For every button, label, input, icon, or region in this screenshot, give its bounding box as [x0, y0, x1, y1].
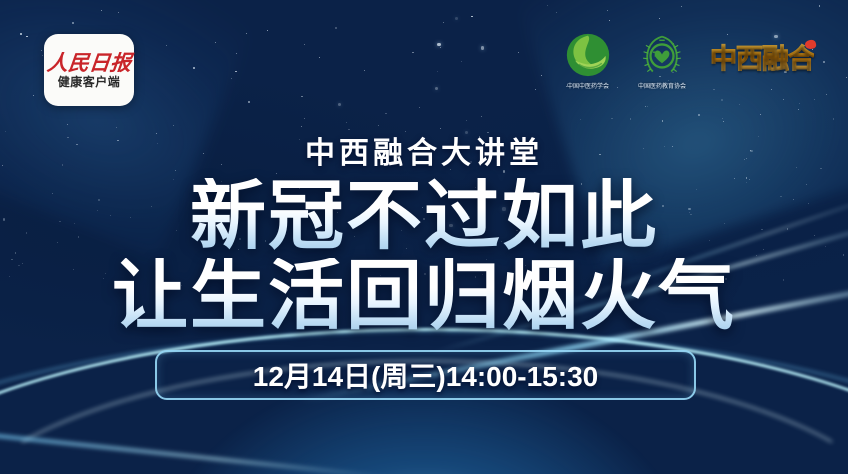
partner-caption-tcm-society: 中国中医药学会 — [567, 81, 609, 90]
schedule-datetime-text: 12月14日(周三)14:00-15:30 — [253, 355, 599, 395]
green-globe-wreath-emblem — [639, 32, 685, 78]
program-subtitle: 中西融合大讲堂 — [0, 128, 848, 172]
partner-logo-pharma-education: 中国医药教育协会 — [630, 32, 694, 90]
headline-line-2: 让生活回归烟火气 — [0, 258, 848, 336]
green-leaf-hand-circle-logo — [565, 32, 611, 78]
headline-line-1: 新冠不过如此 — [0, 178, 848, 256]
partner-logo-tcm-society: 中国中医药学会 — [556, 32, 620, 90]
partner-caption-pharma-education: 中国医药教育协会 — [638, 81, 686, 90]
partner-logo-row: 中国中医药学会 中国医药教育协会 中西融合 — [556, 32, 814, 90]
webinar-poster: 人民日报 健康客户端 中国中医药学会 — [0, 0, 848, 474]
peoples-daily-subtitle: 健康客户端 — [58, 76, 121, 88]
zhongxi-ronghe-wordmark: 中西融合 — [710, 32, 814, 73]
zhongxi-ronghe-text: 中西融合 — [710, 44, 814, 74]
peoples-daily-health-app-logo: 人民日报 健康客户端 — [44, 34, 134, 106]
peoples-daily-masthead: 人民日报 — [46, 53, 132, 74]
schedule-badge: 12月14日(周三)14:00-15:30 — [155, 350, 696, 400]
